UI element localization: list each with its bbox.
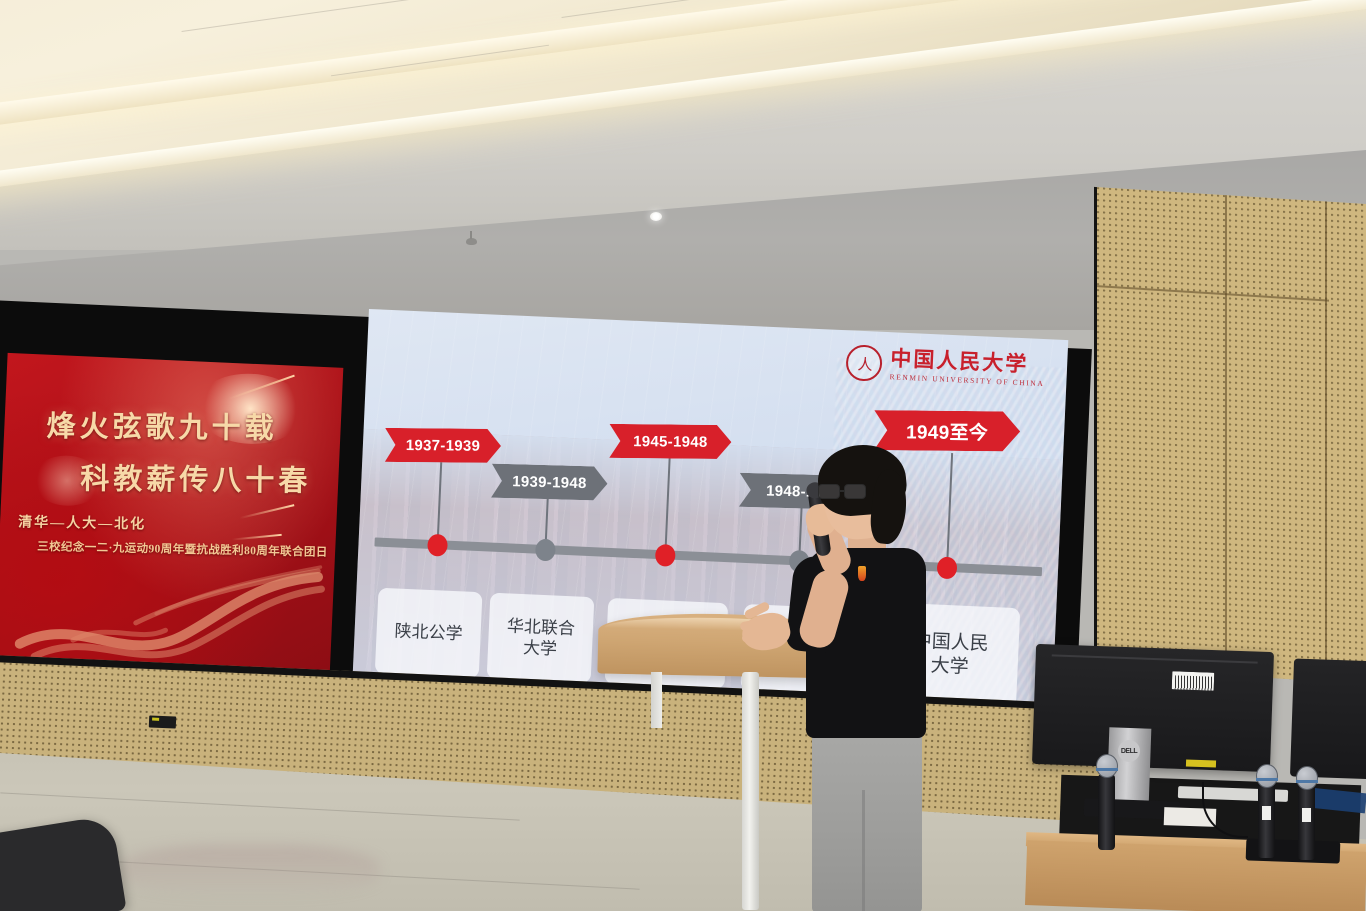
glasses-bridge [840, 490, 845, 492]
cable-marker [1186, 759, 1216, 767]
wall-socket-plate [149, 715, 176, 728]
floor-reflection [120, 845, 380, 897]
university-seal-icon: 人 [845, 344, 883, 382]
podium-leg [651, 672, 662, 728]
microphone-head-icon [1096, 754, 1118, 778]
microphone-label [1302, 808, 1311, 822]
microphone-head-icon [1256, 764, 1278, 788]
ceiling-downlight [650, 212, 662, 221]
milestone-period-1: 1939-1948 [491, 464, 608, 501]
microphone-band [1096, 768, 1118, 771]
presenter-pants-seam [862, 790, 865, 911]
microphone-band [1256, 778, 1278, 781]
monitor-primary[interactable] [1032, 644, 1274, 772]
banner-streak [232, 534, 282, 540]
wireless-microphone-1[interactable] [1258, 782, 1275, 858]
dell-logo-icon: DELL [1118, 740, 1140, 762]
seal-glyph: 人 [857, 353, 871, 375]
microphone-band [1296, 780, 1318, 783]
flame-badge-icon [858, 566, 866, 581]
banner-title-line2: 科教薪传八十春 [80, 455, 311, 499]
acoustic-wall-right [1094, 187, 1366, 685]
banner-subtitle-line1: 清华—人大—北化 [18, 511, 146, 533]
microphone-label [1262, 806, 1271, 820]
presenter-pants [812, 722, 922, 911]
monitor-secondary[interactable] [1290, 658, 1366, 779]
panel-seam [1097, 285, 1329, 302]
podium-column [742, 672, 759, 910]
banner-streak [239, 504, 294, 518]
glasses-lens-right [844, 484, 866, 499]
screen-left-banner: 烽火弦歌九十载 科教薪传八十春 清华—人大—北化 三校纪念一二·九运动90周年暨… [0, 353, 343, 678]
milestone-name-1: 华北联合大学 [487, 593, 595, 684]
milestone-name-0: 陕北公学 [375, 588, 483, 679]
glasses-lens-left [818, 484, 840, 499]
panel-seam [1325, 201, 1327, 681]
chair[interactable] [0, 815, 127, 911]
panel-seam [1225, 195, 1227, 675]
microphone-head-icon [1296, 766, 1318, 790]
monitor-asset-label [1172, 671, 1215, 690]
wireless-microphone-3[interactable] [1098, 774, 1115, 850]
wireless-microphone-2[interactable] [1298, 784, 1315, 860]
smoke-detector-icon [466, 238, 477, 245]
glasses-icon [818, 484, 876, 500]
milestone-period-2: 1945-1948 [609, 424, 731, 459]
presenter-finger [742, 633, 769, 644]
banner-title-line1: 烽火弦歌九十载 [46, 403, 277, 447]
milestone-period-4: 1949至今 [874, 410, 1020, 451]
scene-root: 烽火弦歌九十载 科教薪传八十春 清华—人大—北化 三校纪念一二·九运动90周年暨… [0, 0, 1366, 911]
logo-text-cn: 中国人民大学 [890, 348, 1046, 376]
milestone-period-0: 1937-1939 [385, 428, 501, 463]
